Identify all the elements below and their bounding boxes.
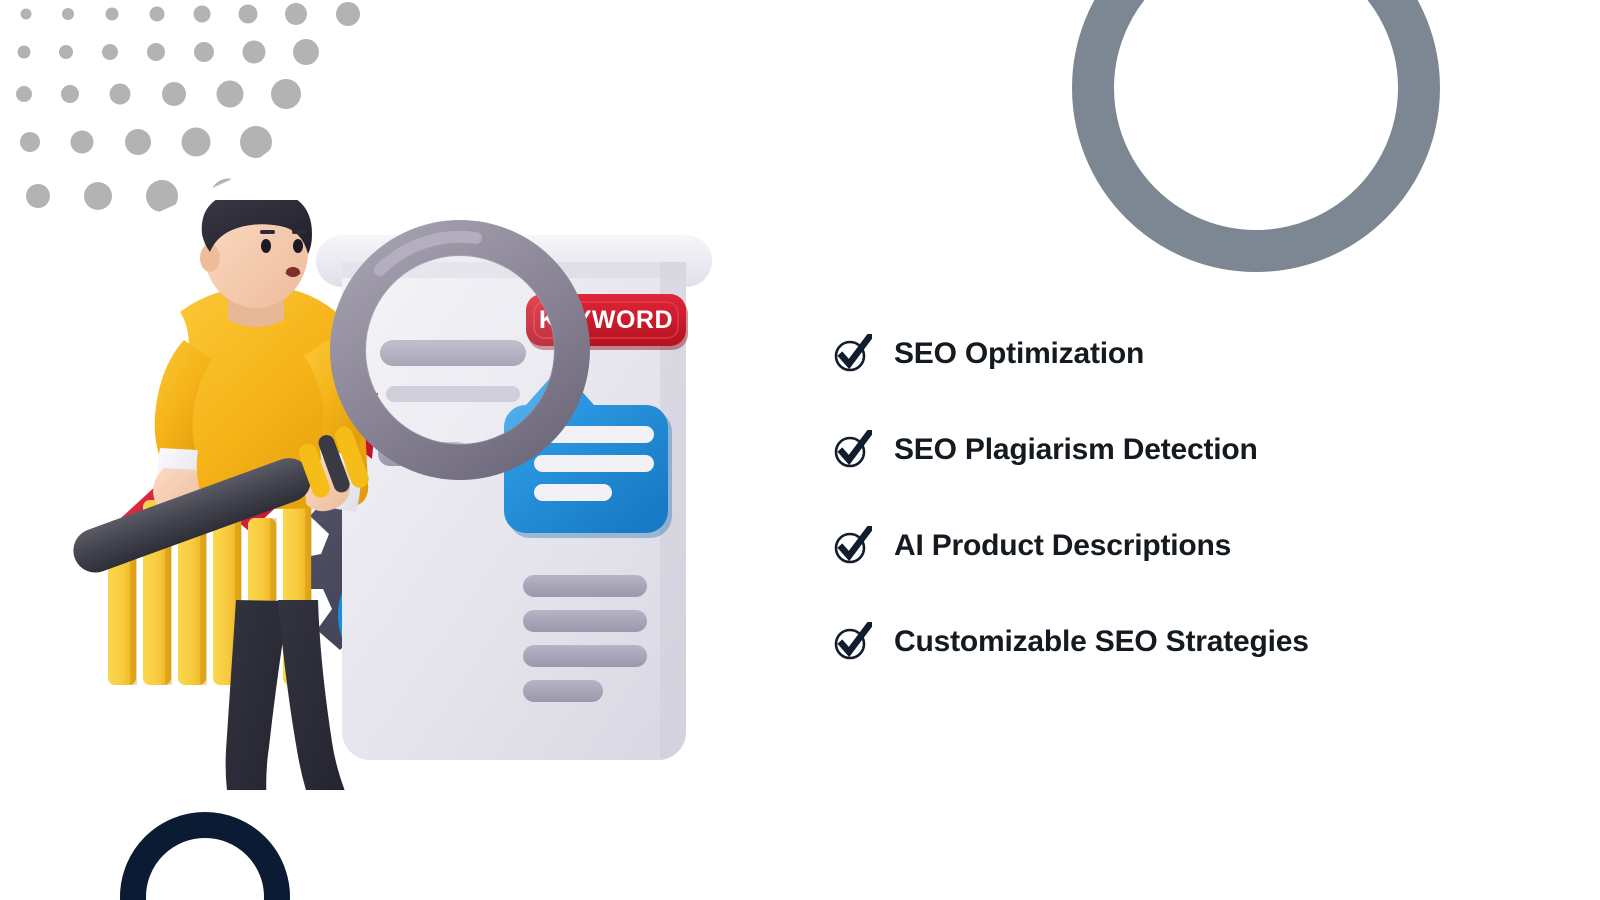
seo-analysis-illustration: KEYWORD <box>60 200 740 790</box>
feature-item-label: SEO Optimization <box>894 339 1144 369</box>
feature-item-seo-plagiarism-detection[interactable]: SEO Plagiarism Detection <box>832 402 1472 498</box>
feature-item-label: AI Product Descriptions <box>894 531 1231 561</box>
check-circle-icon <box>832 622 872 662</box>
halftone-dot-grid-icon <box>0 0 400 230</box>
check-circle-icon <box>832 430 872 470</box>
decorative-ring-top-right <box>1072 0 1440 272</box>
feature-item-label: Customizable SEO Strategies <box>894 627 1309 657</box>
check-circle-icon <box>832 526 872 566</box>
feature-item-customizable-seo-strategies[interactable]: Customizable SEO Strategies <box>832 594 1472 690</box>
feature-item-label: SEO Plagiarism Detection <box>894 435 1258 465</box>
decorative-ring-bottom-left <box>120 812 290 900</box>
check-circle-icon <box>832 334 872 374</box>
feature-item-ai-product-descriptions[interactable]: AI Product Descriptions <box>832 498 1472 594</box>
feature-list: SEO Optimization SEO Plagiarism Detectio… <box>832 306 1472 690</box>
slide-canvas: KEYWORD <box>0 0 1600 900</box>
feature-item-seo-optimization[interactable]: SEO Optimization <box>832 306 1472 402</box>
